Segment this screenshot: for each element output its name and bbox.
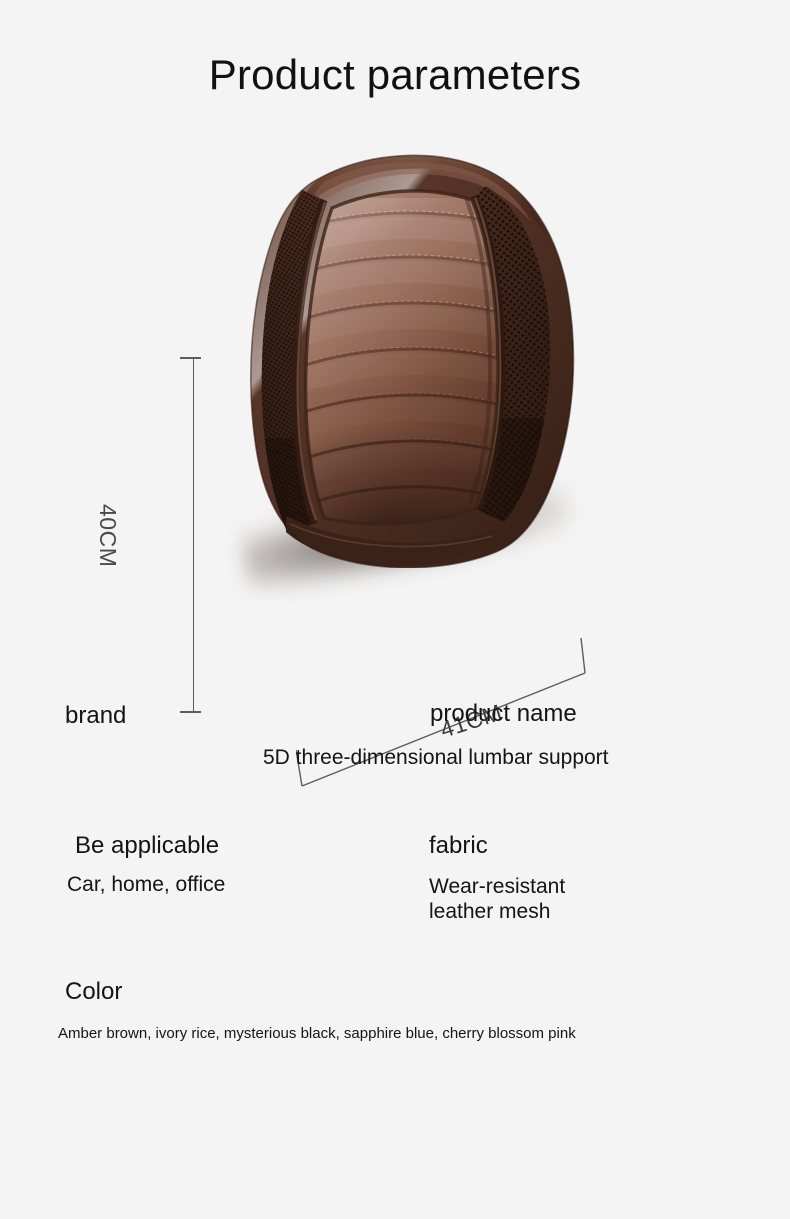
- spec-row: brand product name 5D three-dimensional …: [0, 690, 790, 822]
- spec-label-be-applicable: Be applicable: [75, 832, 225, 861]
- spec-label-color: Color: [65, 978, 576, 1007]
- lumbar-support-illustration: [228, 138, 628, 568]
- spec-row: Be applicable Car, home, office fabric W…: [0, 822, 790, 970]
- spec-cell-color: Color Amber brown, ivory rice, mysteriou…: [65, 978, 576, 1042]
- spec-row: Color Amber brown, ivory rice, mysteriou…: [0, 970, 790, 1080]
- spec-list: brand product name 5D three-dimensional …: [0, 690, 790, 1080]
- spec-label-product-name: product name: [430, 700, 609, 729]
- spec-label-fabric: fabric: [429, 832, 565, 861]
- dimension-height-label: 40CM: [94, 504, 121, 567]
- spec-label-brand: brand: [65, 702, 126, 731]
- spec-cell-fabric: fabric Wear-resistant leather mesh: [429, 832, 565, 924]
- page-title: Product parameters: [0, 52, 790, 98]
- product-image-stage: 40CM 41CM: [0, 130, 790, 670]
- dimension-height-line: [193, 358, 194, 713]
- spec-value-fabric: Wear-resistant leather mesh: [429, 875, 565, 925]
- spec-cell-brand: brand: [65, 702, 126, 743]
- spec-value-color: Amber brown, ivory rice, mysterious blac…: [58, 1025, 576, 1043]
- product-photo: [228, 138, 628, 588]
- spec-value-be-applicable: Car, home, office: [67, 873, 225, 898]
- spec-cell-be-applicable: Be applicable Car, home, office: [75, 832, 225, 898]
- dimension-height-tick-top: [180, 357, 201, 359]
- spec-value-product-name: 5D three-dimensional lumbar support: [263, 746, 609, 771]
- spec-cell-product-name: product name 5D three-dimensional lumbar…: [430, 700, 609, 771]
